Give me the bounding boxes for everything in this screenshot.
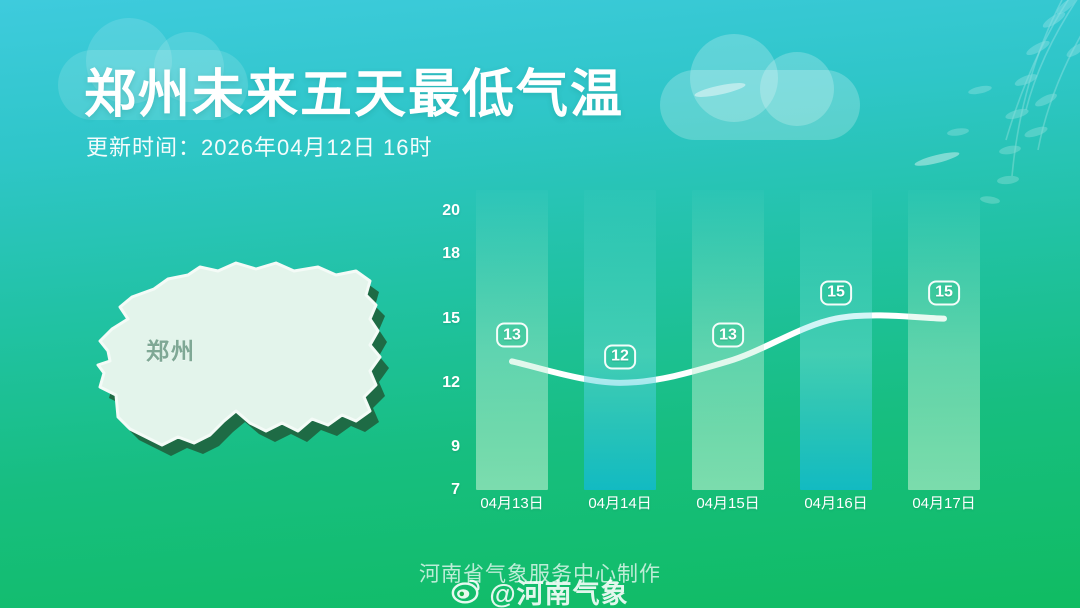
floating-leaf-icon-2 [910,148,964,170]
floating-leaf-icon-1 [690,78,750,102]
zhengzhou-map [70,245,420,490]
x-axis-label: 04月14日 [588,492,651,513]
willow-branch-decoration [886,0,1080,220]
x-axis-label: 04月16日 [804,492,867,513]
temperature-chart: 2018151297 04月13日04月14日04月15日04月16日04月17… [420,190,1020,520]
update-time-text: 更新时间：2026年04月12日 16时 [86,130,432,162]
page-title: 郑州未来五天最低气温 [84,52,624,127]
chart-bar [800,190,872,490]
weibo-handle-text: @河南气象 [489,572,628,608]
data-label-badge: 13 [712,323,744,348]
map-region-label: 郑州 [146,332,196,366]
data-label-badge: 12 [604,344,636,369]
x-axis-label: 04月13日 [480,492,543,513]
y-axis: 2018151297 [420,190,460,490]
x-axis-label: 04月17日 [912,492,975,513]
chart-bar [908,190,980,490]
map-shape [70,245,420,490]
data-label-badge: 13 [496,323,528,348]
x-axis-label: 04月15日 [696,492,759,513]
data-label-badge: 15 [820,280,852,305]
chart-bar [584,190,656,490]
data-label-badge: 15 [928,280,960,305]
weibo-watermark: @河南气象 [0,572,1080,608]
infographic-canvas: 郑州未来五天最低气温 更新时间：2026年04月12日 16时 郑州 20181… [0,0,1080,608]
plot-area: 04月13日04月14日04月15日04月16日04月17日1312131515 [458,190,998,490]
weibo-logo-icon [451,577,481,607]
